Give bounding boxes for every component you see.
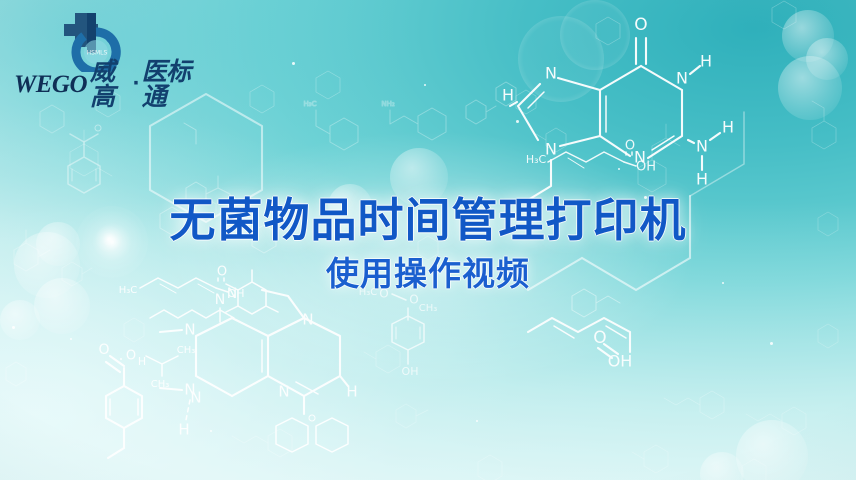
- page-title: 无菌物品时间管理打印机: [0, 196, 856, 245]
- wordmark-latin: WEGO: [14, 72, 87, 97]
- brand-wordmark: WEGO 威高 · 医标通: [14, 70, 204, 98]
- page-subtitle: 使用操作视频: [0, 256, 856, 292]
- wordmark-cn-yibiaotong: 医标通: [142, 59, 204, 109]
- title-block: 无菌物品时间管理打印机 使用操作视频: [0, 196, 856, 292]
- brand-logo: HSMLS WEGO 威高 · 医标通: [14, 12, 204, 96]
- video-title-slide: .ln { fill:none; stroke:#ffffff; stroke-…: [0, 0, 856, 480]
- wordmark-separator: ·: [133, 72, 141, 96]
- logo-inner-text: HSMLS: [87, 50, 108, 57]
- wordmark-cn-weigao: 威高: [90, 59, 132, 109]
